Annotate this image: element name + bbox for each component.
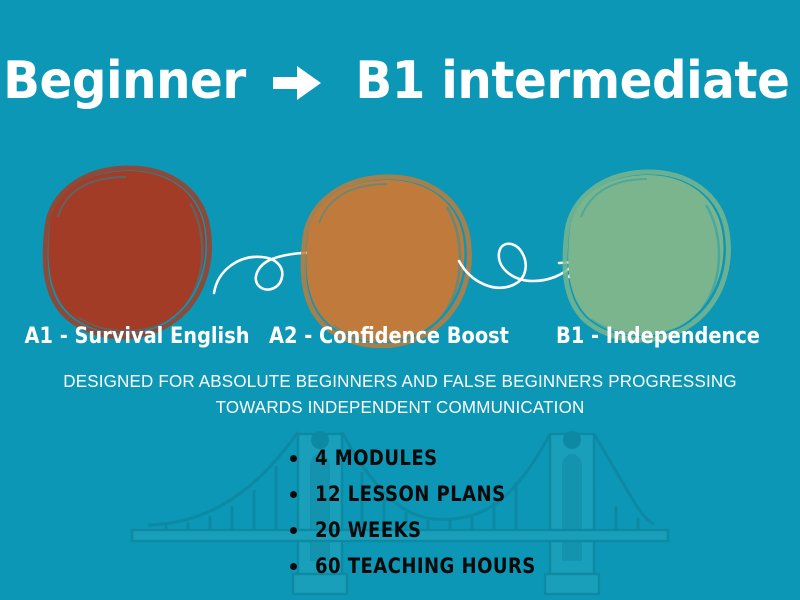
bullet-dot-icon: [290, 563, 297, 570]
brush-circle-icon: [38, 165, 213, 340]
bullet-dot-icon: [290, 527, 297, 534]
description-text: DESIGNED FOR ABSOLUTE BEGINNERS AND FALS…: [40, 368, 760, 420]
list-item: 20 WEEKS: [285, 515, 572, 545]
list-item: 4 MODULES: [285, 443, 572, 473]
title-left-text: Beginner: [3, 55, 246, 107]
page-title: Beginner B1 intermediate: [0, 47, 800, 115]
description-line-1: DESIGNED FOR ABSOLUTE BEGINNERS AND FALS…: [51, 368, 749, 394]
bullet-dot-icon: [290, 491, 297, 498]
list-item: 60 TEACHING HOURS: [285, 551, 572, 581]
stage-label-b1: B1 - Independence: [535, 322, 781, 352]
stage-labels: A1 - Survival English A2 - Confidence Bo…: [0, 322, 800, 356]
title-right-text: B1 intermediate: [355, 55, 789, 107]
stage-blob-a1: [38, 165, 213, 340]
brush-circle-icon: [557, 169, 732, 344]
stage-blob-b1: [557, 169, 732, 344]
list-item: 12 LESSON PLANS: [285, 479, 572, 509]
list-item-label: 4 MODULES: [315, 443, 438, 473]
list-item-label: 60 TEACHING HOURS: [315, 551, 536, 581]
stage-label-a1: A1 - Survival English: [14, 322, 260, 352]
bullet-dot-icon: [290, 455, 297, 462]
stage-label-a2: A2 - Confidence Boost: [266, 322, 512, 352]
list-item-label: 20 WEEKS: [315, 515, 421, 545]
feature-list: 4 MODULES 12 LESSON PLANS 20 WEEKS 60 TE…: [285, 443, 572, 587]
list-item-label: 12 LESSON PLANS: [315, 479, 506, 509]
right-arrow-icon: [271, 61, 323, 105]
slide-canvas: Beginner B1 intermediate: [0, 0, 800, 600]
description-line-2: TOWARDS INDEPENDENT COMMUNICATION: [51, 394, 749, 420]
